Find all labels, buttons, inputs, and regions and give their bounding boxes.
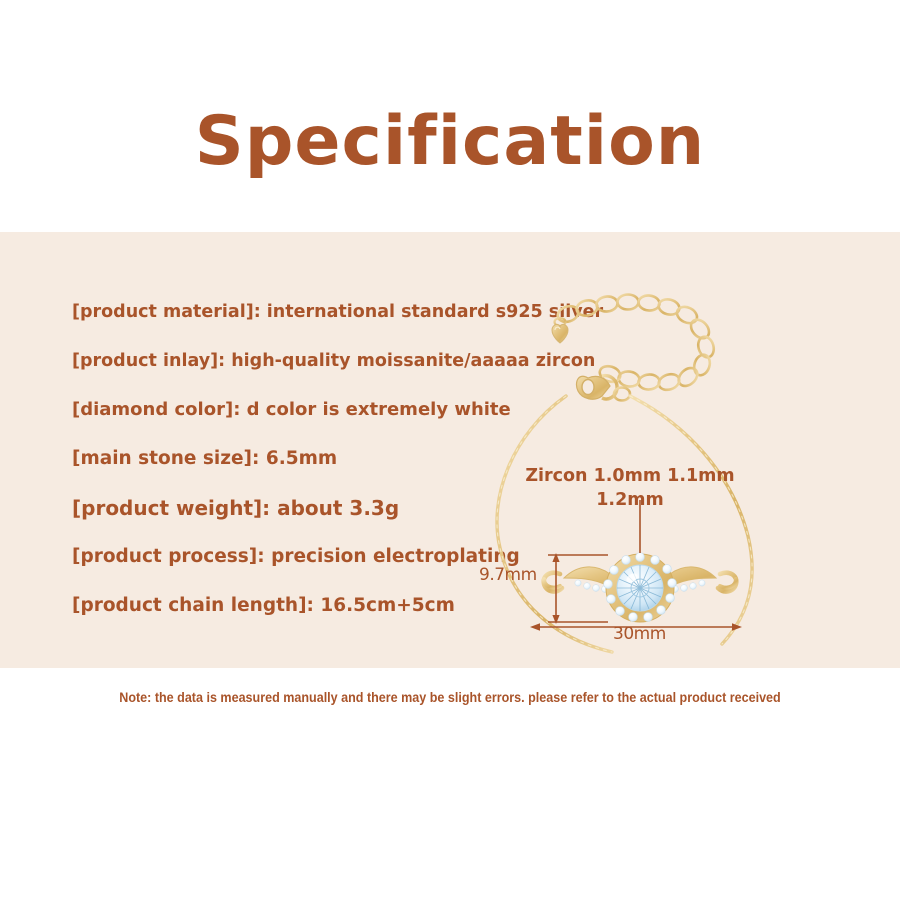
height-dimension-label: 9.7mm bbox=[479, 565, 537, 585]
specification-page: Specification [product material]: intern… bbox=[0, 0, 900, 900]
center-pendant bbox=[544, 553, 737, 622]
main-stone bbox=[617, 565, 663, 611]
disclaimer-note: Note: the data is measured manually and … bbox=[32, 690, 869, 705]
zircon-annotation-line-2: 1.2mm bbox=[500, 488, 760, 512]
heart-charm bbox=[552, 318, 568, 343]
lobster-clasp bbox=[576, 376, 630, 401]
page-title: Specification bbox=[0, 108, 900, 176]
bracelet-product-image bbox=[460, 248, 820, 658]
zircon-annotation-line-1: Zircon 1.0mm 1.1mm bbox=[500, 464, 760, 488]
zircon-size-annotation: Zircon 1.0mm 1.1mm 1.2mm bbox=[500, 464, 760, 512]
width-dimension-label: 30mm bbox=[613, 624, 666, 644]
